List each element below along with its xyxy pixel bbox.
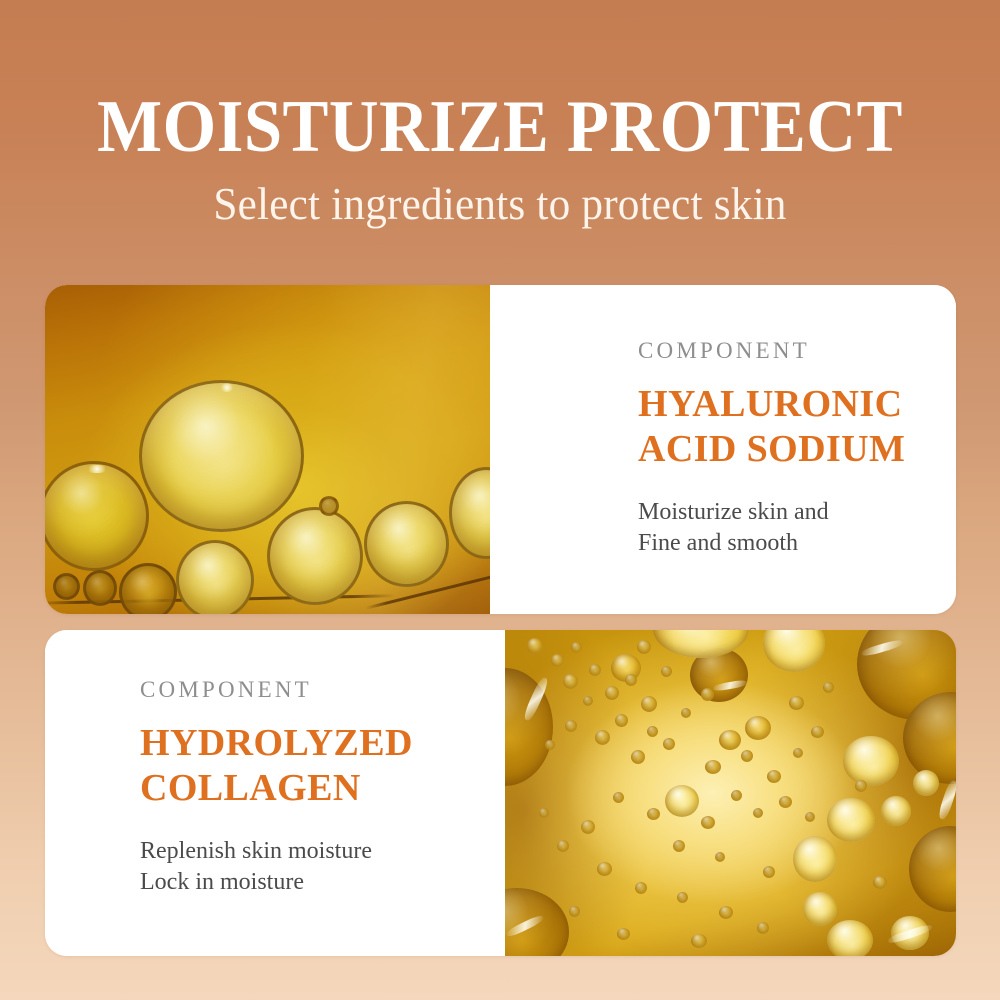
oil-droplet-small-26: [753, 808, 763, 818]
page-title: MOISTURIZE PROTECT: [35, 0, 965, 166]
oil-droplet-small-31: [613, 792, 624, 803]
oil-droplet-small-28: [673, 840, 685, 852]
component-name: HYDROLYZED COLLAGEN: [140, 703, 505, 811]
poster-canvas: MOISTURIZE PROTECT Select ingredients to…: [0, 0, 1000, 1000]
component-description-line-1: Moisturize skin and: [638, 497, 956, 528]
oil-droplet-medium-a: [843, 736, 899, 786]
component-name-line-2: ACID SODIUM: [638, 427, 956, 472]
oil-droplet-small-4: [563, 674, 578, 689]
oil-droplet-medium-i: [719, 730, 741, 750]
poster-header: MOISTURIZE PROTECT Select ingredients to…: [0, 0, 1000, 230]
oil-droplet-small-10: [615, 714, 628, 727]
oil-droplet-small-17: [681, 708, 691, 718]
oil-droplet-small-49: [805, 812, 815, 822]
component-name-line-1: HYALURONIC: [638, 382, 956, 427]
oil-droplet-small-44: [811, 726, 824, 738]
ingredient-image-hyaluronic-acid-sodium: [45, 285, 490, 614]
oil-droplet-small-41: [617, 928, 630, 940]
ingredient-card-hydrolyzed-collagen[interactable]: COMPONENT HYDROLYZED COLLAGEN Replenish …: [45, 630, 956, 956]
component-description-line-2: Fine and smooth: [638, 528, 956, 559]
oil-droplet-small-30: [647, 808, 660, 820]
oil-droplet-small-3: [571, 642, 582, 653]
oil-droplet-small-42: [569, 906, 580, 917]
oil-bubble-highlight-left: [86, 465, 108, 473]
oil-bubble-right-b: [364, 501, 449, 587]
oil-droplet-small-22: [741, 750, 753, 762]
oil-droplet-small-19: [661, 666, 672, 677]
oil-bubble-right-a: [267, 507, 363, 605]
oil-droplet-small-45: [789, 696, 804, 710]
oil-droplet-small-7: [583, 696, 593, 706]
oil-droplet-small-35: [597, 862, 612, 876]
oil-droplet-small-18: [701, 688, 714, 701]
oil-droplet-medium-e: [665, 785, 699, 817]
oil-droplet-small-29: [715, 852, 725, 862]
oil-droplet-medium-k: [827, 920, 873, 956]
oil-droplet-small-13: [565, 720, 577, 732]
oil-droplet-medium-g: [913, 770, 939, 796]
oil-droplet-small-20: [637, 640, 651, 654]
oil-droplet-small-6: [605, 686, 619, 700]
ingredient-text-hyaluronic-acid-sodium: COMPONENT HYALURONIC ACID SODIUM Moistur…: [490, 285, 956, 614]
oil-droplet-small-43: [793, 748, 803, 758]
oil-droplet-small-24: [731, 790, 742, 801]
component-name: HYALURONIC ACID SODIUM: [638, 364, 956, 472]
oil-bubble-tiny-b: [83, 570, 117, 606]
oil-droplet-small-8: [625, 674, 637, 686]
oil-droplet-small-23: [767, 770, 781, 783]
oil-droplet-small-48: [763, 866, 775, 878]
oil-bubble-micro: [319, 496, 339, 516]
ingredient-card-hyaluronic-acid-sodium[interactable]: COMPONENT HYALURONIC ACID SODIUM Moistur…: [45, 285, 956, 614]
component-description: Moisturize skin and Fine and smooth: [638, 472, 956, 559]
component-eyebrow: COMPONENT: [638, 338, 956, 364]
oil-droplet-small-16: [663, 738, 675, 750]
component-name-line-2: COLLAGEN: [140, 766, 505, 811]
oil-droplet-small-5: [589, 664, 601, 676]
oil-bubble-tiny-a: [53, 573, 80, 600]
component-eyebrow: COMPONENT: [140, 677, 505, 703]
oil-droplet-medium-h: [745, 716, 771, 740]
ingredient-image-hydrolyzed-collagen: [505, 630, 956, 956]
oil-droplet-small-32: [581, 820, 595, 834]
oil-droplet-medium-b: [827, 798, 875, 842]
oil-droplet-small-11: [647, 726, 658, 737]
oil-droplet-small-50: [873, 876, 887, 889]
ingredient-text-hydrolyzed-collagen: COMPONENT HYDROLYZED COLLAGEN Replenish …: [45, 630, 505, 956]
oil-bubble-small-dark: [119, 563, 177, 614]
oil-droplet-medium-d: [803, 892, 837, 926]
oil-droplet-small-39: [757, 922, 769, 934]
oil-droplet-small-46: [823, 682, 834, 693]
component-description-line-1: Replenish skin moisture: [140, 836, 505, 867]
oil-droplet-small-15: [631, 750, 645, 764]
oil-droplet-small-34: [539, 808, 549, 818]
oil-droplet-small-27: [779, 796, 792, 808]
oil-droplet-small-36: [635, 882, 647, 894]
oil-droplet-small-1: [527, 638, 543, 654]
oil-droplet-medium-c: [793, 836, 837, 882]
oil-droplet-medium-f: [881, 796, 911, 826]
component-description: Replenish skin moisture Lock in moisture: [140, 811, 505, 898]
oil-droplet-small-47: [855, 780, 867, 792]
oil-droplet-small-37: [677, 892, 688, 903]
oil-bubble-highlight: [220, 383, 234, 392]
component-description-line-2: Lock in moisture: [140, 867, 505, 898]
oil-bubble-bottom-mid: [176, 540, 254, 614]
page-subtitle: Select ingredients to protect skin: [30, 166, 970, 230]
oil-droplet-small-2: [551, 654, 564, 667]
oil-bubble-large: [139, 380, 304, 532]
component-name-line-1: HYDROLYZED: [140, 721, 505, 766]
oil-droplet-small-21: [705, 760, 721, 774]
oil-droplet-small-38: [719, 906, 733, 919]
oil-droplet-small-33: [557, 840, 569, 852]
oil-droplet-small-9: [641, 696, 657, 712]
oil-droplet-small-12: [595, 730, 610, 745]
oil-droplet-small-14: [545, 740, 555, 750]
oil-droplet-small-40: [691, 934, 707, 948]
oil-droplet-small-25: [701, 816, 715, 829]
